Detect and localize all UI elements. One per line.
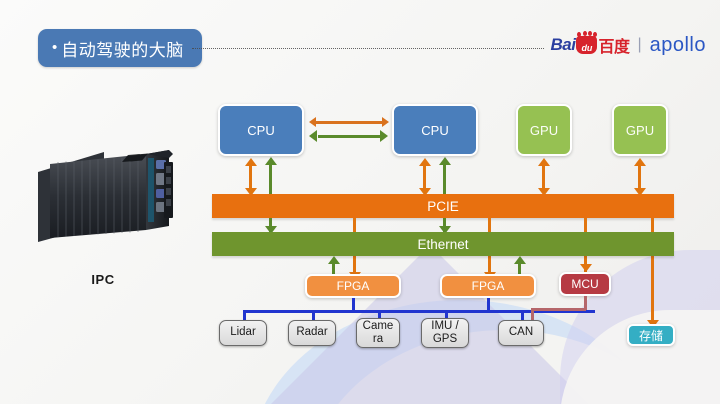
cpu1-pcie-green-line [269,164,272,196]
node-fpga-1[interactable]: FPGA [305,274,401,298]
cpu2-pcie-green-line [443,164,446,196]
cpu1-pcie-green-arrow-up [265,157,277,165]
gpu2-pcie-line [638,164,641,190]
gpu2-pcie-arrow-up [634,158,646,166]
ipc-photo [28,138,178,258]
node-mcu[interactable]: MCU [559,272,611,296]
cpu1-pcie-orange-arrow-up [245,158,257,166]
node-sensor-lidar[interactable]: Lidar [219,320,267,346]
cpu1-pcie-orange-line [249,164,252,190]
baidu-chinese-text: 百度 [598,33,629,57]
gpu1-pcie-arrow-up [538,158,550,166]
node-fpga-2[interactable]: FPGA [440,274,536,298]
node-gpu-1[interactable]: GPU [516,104,572,156]
baidu-latin-text: Bai [550,35,575,55]
bus-ethernet[interactable]: Ethernet [212,232,674,256]
page-title: 自动驾驶的大脑 [61,36,184,61]
title-bullet-icon: • [52,40,57,55]
page-title-badge: • 自动驾驶的大脑 [38,29,202,67]
ipc-label: IPC [28,272,178,287]
fpga2-bus-drop [487,298,490,310]
pcie-mcu-arrow [580,264,592,272]
node-sensor-radar[interactable]: Radar [288,320,336,346]
baidu-paw-icon: du [576,36,597,54]
node-sensor-camera[interactable]: Came ra [356,318,400,348]
eth-fpga1-arrow-up [328,256,340,264]
bus-pcie[interactable]: PCIE [212,194,674,218]
cpu2-pcie-orange-arrow-up [419,158,431,166]
node-sensor-can[interactable]: CAN [498,320,544,346]
cpu-link-green-line [318,135,380,138]
logo-divider: | [637,36,641,54]
eth-fpga2-arrow-up [514,256,526,264]
slide-canvas: • 自动驾驶的大脑 Bai du 百度 | apollo [0,0,720,404]
node-cpu-2[interactable]: CPU [392,104,478,156]
cpu-link-orange-arrow-left [309,117,316,127]
cpu-link-orange-line [316,121,382,124]
node-storage[interactable]: 存储 [627,324,675,346]
ipc-image-svg [28,138,178,258]
baidu-paw-text: du [576,43,597,53]
baidu-logo: Bai du 百度 [550,33,629,57]
cpu2-pcie-green-arrow-up [439,157,451,165]
apollo-wordmark: apollo [650,34,706,57]
cpu-link-orange-arrow-right [382,117,389,127]
cpu2-pcie-orange-line [423,164,426,190]
node-sensor-imu-gps[interactable]: IMU / GPS [421,318,469,348]
gpu1-pcie-line [542,164,545,190]
fpga1-bus-drop [352,298,355,310]
node-gpu-2[interactable]: GPU [612,104,668,156]
mcu-can-horizontal [531,308,586,311]
cpu-link-green-arrow-left [309,130,317,142]
node-cpu-1[interactable]: CPU [218,104,304,156]
cpu-link-green-arrow-right [380,130,388,142]
header-dotted-divider [192,48,544,49]
brand-logo: Bai du 百度 | apollo [550,32,706,58]
